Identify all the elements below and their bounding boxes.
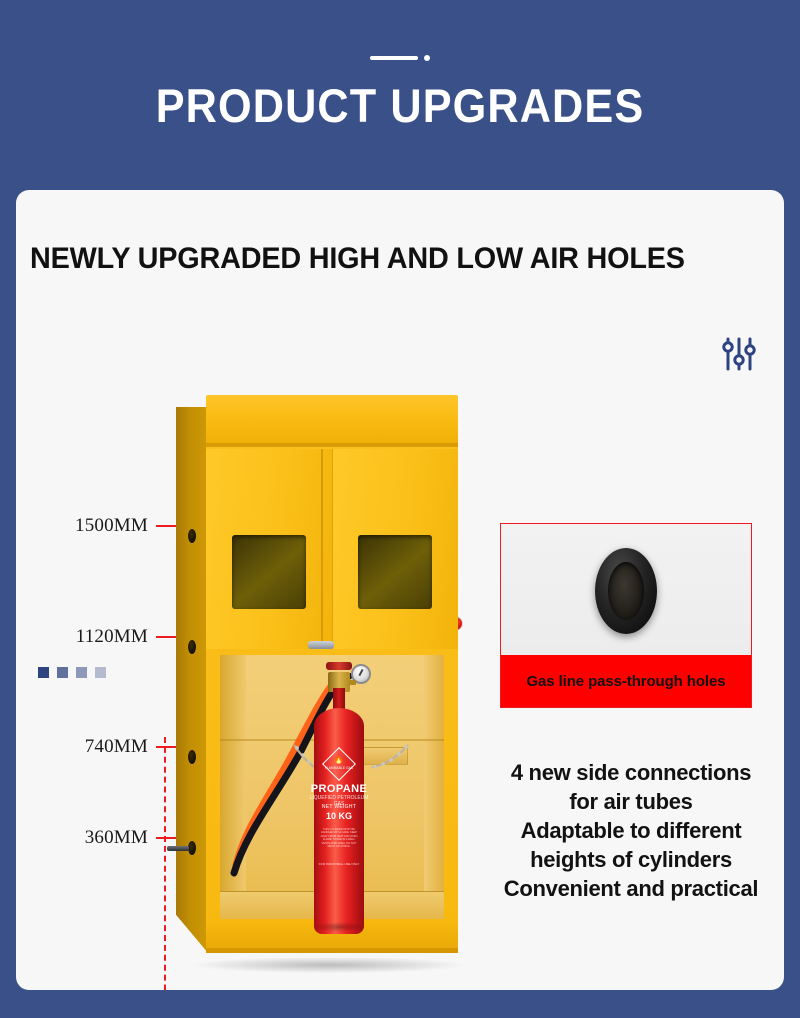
product-image-cabinet: 🔥 FLAMMABLE GAS PROPANE LIQUEFIED PETROL… [176, 395, 466, 965]
sliders-icon [720, 335, 758, 373]
cylinder-brand-label: PROPANE [304, 783, 374, 795]
door-handle[interactable] [308, 641, 334, 649]
feature-line: Convenient and practical [478, 874, 784, 903]
cylinder-fine-print: THIS CYLINDER MUST BE HANDLED WITH CARE.… [320, 828, 358, 848]
cabinet-doors[interactable] [206, 449, 458, 649]
cylinder-net-weight-value: 10 KG [304, 811, 374, 821]
measurement-row: 740MM [16, 735, 196, 759]
cabinet-top-bevel [206, 443, 458, 447]
divider-dot-icon [424, 55, 430, 61]
feature-line: heights of cylinders [478, 845, 784, 874]
air-hole [188, 529, 196, 543]
measurement-label: 1500MM [75, 515, 148, 537]
compartment-left-wall [220, 655, 246, 925]
cabinet-top-panel [206, 395, 458, 447]
door-seam [321, 449, 323, 649]
hazard-class-text: FLAMMABLE GAS [321, 766, 357, 770]
divider-line [370, 56, 418, 60]
air-hole [188, 841, 196, 855]
content-card: NEWLY UPGRADED HIGH AND LOW AIR HOLES 15… [16, 190, 784, 990]
grommet-photo [501, 524, 751, 657]
feature-line: 4 new side connections [478, 758, 784, 787]
cabinet-door-left[interactable] [206, 449, 333, 649]
page-header: PRODUCT UPGRADES [0, 0, 800, 190]
measurement-row: 1120MM [16, 625, 196, 649]
rubber-grommet-icon [595, 548, 657, 634]
cylinder-body [314, 712, 364, 934]
grommet-callout-box: Gas line pass-through holes [500, 523, 752, 708]
cabinet-base-lip [206, 948, 458, 953]
compartment-right-wall [424, 655, 444, 925]
measurement-label: 360MM [85, 827, 148, 849]
cabinet-side-holes [176, 407, 208, 953]
flame-glyph: 🔥 [327, 755, 351, 764]
door-window-right [358, 535, 432, 609]
header-divider-decoration [0, 52, 800, 64]
callout-caption: Gas line pass-through holes [501, 655, 751, 707]
door-window-left [232, 535, 306, 609]
cylinder-shadow [312, 922, 366, 932]
valve-handwheel[interactable] [326, 662, 352, 670]
measurement-label: 740MM [85, 736, 148, 758]
air-hole [188, 750, 196, 764]
feature-description: 4 new side connections for air tubes Ada… [478, 758, 784, 903]
cabinet-door-right[interactable] [333, 449, 459, 649]
cylinder-footer-print: FOR INDUSTRIAL USE ONLY [316, 862, 362, 866]
propane-gas-cylinder: 🔥 FLAMMABLE GAS PROPANE LIQUEFIED PETROL… [304, 650, 374, 935]
feature-line: Adaptable to different [478, 816, 784, 845]
measurement-guide-line [164, 737, 166, 990]
air-hole-connector [167, 846, 189, 851]
page-title: PRODUCT UPGRADES [32, 78, 768, 133]
measurement-row: 1500MM [16, 514, 196, 538]
feature-line: for air tubes [478, 787, 784, 816]
cylinder-net-weight-label: NET WEIGHT [304, 804, 374, 810]
air-hole [188, 640, 196, 654]
measurement-label: 1120MM [76, 626, 148, 648]
cabinet-ground-shadow [194, 957, 464, 973]
